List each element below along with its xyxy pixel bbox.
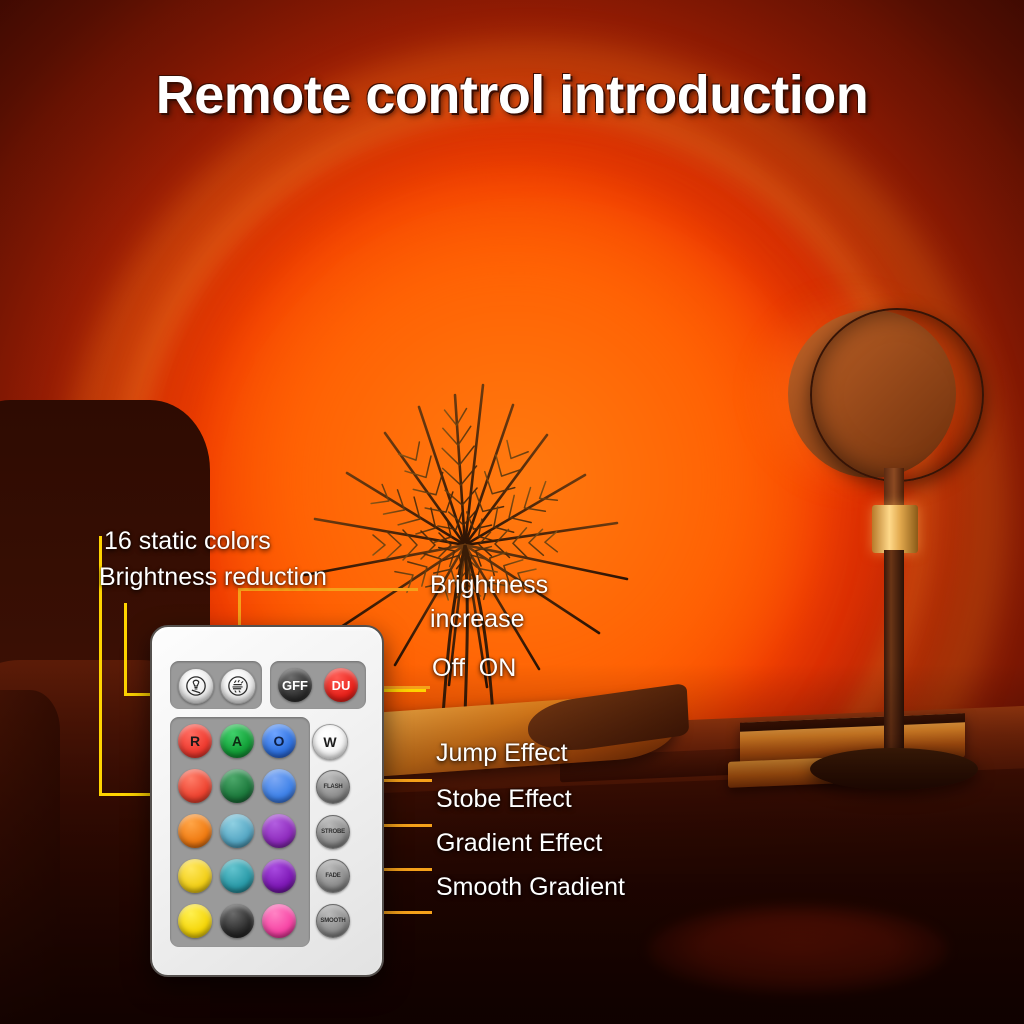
color-swatch[interactable] [178, 859, 212, 893]
color-swatch[interactable] [220, 859, 254, 893]
color-button-green[interactable]: A [220, 724, 254, 758]
label-brightness-increase-line2: increase [430, 606, 525, 633]
label-16-static-colors: 16 static colors [104, 528, 271, 555]
strobe-button-label: STROBE [321, 829, 345, 835]
color-swatch[interactable] [262, 814, 296, 848]
label-stobe-effect: Stobe Effect [436, 786, 572, 813]
off-button[interactable]: GFF [278, 668, 312, 702]
lamp-head-disc [810, 308, 984, 482]
color-swatch[interactable] [220, 904, 254, 938]
color-button-white-label: W [323, 735, 336, 749]
color-button-red[interactable]: R [178, 724, 212, 758]
brightness-up-icon[interactable] [220, 668, 256, 704]
remote-control[interactable]: GFF DU R A O W FLASH [150, 625, 384, 977]
on-button-label: DU [332, 679, 351, 692]
flash-button[interactable]: FLASH [316, 770, 350, 804]
smooth-button-label: SMOOTH [320, 918, 345, 924]
off-button-label: GFF [282, 679, 308, 692]
color-button-red-label: R [190, 734, 200, 748]
flash-button-label: FLASH [324, 784, 343, 790]
fade-button[interactable]: FADE [316, 859, 350, 893]
strobe-button[interactable]: STROBE [316, 815, 350, 849]
smooth-button[interactable]: SMOOTH [316, 904, 350, 938]
fade-button-label: FADE [325, 873, 340, 879]
label-brightness-reduction: Brightness reduction [99, 564, 327, 591]
color-swatch[interactable] [178, 904, 212, 938]
bulb-down-glyph [185, 675, 207, 697]
color-swatch[interactable] [262, 904, 296, 938]
color-button-blue-label: O [274, 734, 285, 748]
label-off-on: Off ON [432, 655, 516, 682]
leader-brightness-reduction-vertical [124, 603, 127, 695]
color-button-blue[interactable]: O [262, 724, 296, 758]
label-gradient-effect: Gradient Effect [436, 830, 602, 857]
color-swatch[interactable] [262, 859, 296, 893]
color-button-white[interactable]: W [312, 724, 348, 760]
color-swatch[interactable] [262, 769, 296, 803]
color-swatch[interactable] [220, 769, 254, 803]
page-title: Remote control introduction [0, 64, 1024, 126]
color-button-green-label: A [232, 734, 242, 748]
color-swatch[interactable] [178, 814, 212, 848]
color-swatch[interactable] [178, 769, 212, 803]
label-smooth-gradient: Smooth Gradient [436, 874, 625, 901]
color-swatch[interactable] [220, 814, 254, 848]
lamp-gold-band [872, 505, 918, 553]
on-button[interactable]: DU [324, 668, 358, 702]
infographic-scene: Remote control introduction [0, 0, 1024, 1024]
brightness-down-icon[interactable] [178, 668, 214, 704]
label-brightness-increase-line1: Brightness [430, 572, 548, 599]
label-jump-effect: Jump Effect [436, 740, 568, 767]
sun-up-glyph [227, 675, 249, 697]
